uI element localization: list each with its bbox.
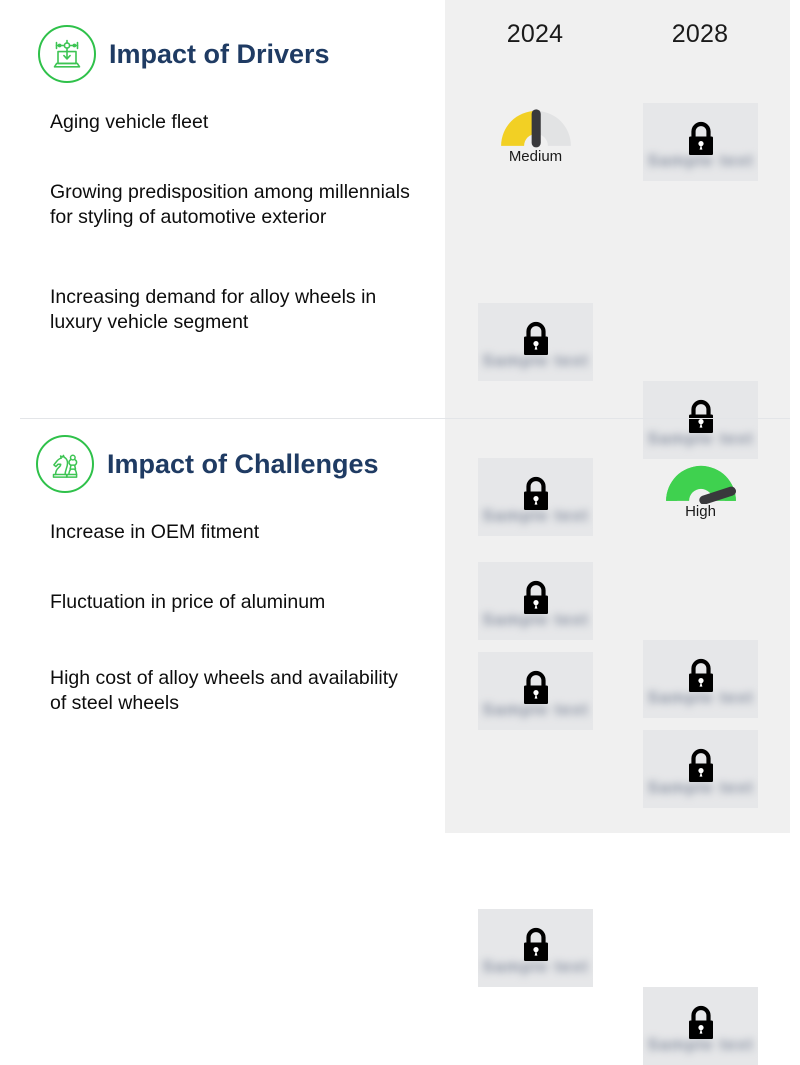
gauge-cell-challenges-0-2028: High (643, 458, 758, 536)
lock-icon (684, 1003, 718, 1048)
section-title-drivers: Impact of Drivers (109, 39, 330, 70)
locked-cell-challenges-0-2024[interactable]: Sample text (478, 458, 593, 536)
column-header-2024: 2024 (475, 20, 595, 49)
locked-cell-challenges-1-2024[interactable]: Sample text (478, 652, 593, 730)
lock-icon (519, 668, 553, 713)
gauge-label-challenges-0-2028: High (685, 503, 716, 520)
chess-pieces-icon (36, 435, 94, 493)
row-label-challenges-2: High cost of alloy wheels and availabili… (50, 666, 410, 716)
gauge-cell-drivers-0-2024: Medium (478, 103, 593, 181)
section-header-challenges: Impact of Challenges (36, 435, 379, 493)
lock-icon (684, 656, 718, 701)
lock-icon (684, 397, 718, 442)
locked-cell-challenges-2-2024[interactable]: Sample text (478, 909, 593, 987)
row-label-drivers-2: Increasing demand for alloy wheels in lu… (50, 285, 410, 335)
locked-cell-challenges-2-2028[interactable]: Sample text (643, 987, 758, 1065)
row-label-drivers-1: Growing predisposition among millennials… (50, 180, 410, 230)
section-drivers-left: Impact of Drivers Aging vehicle fleet Gr… (0, 0, 445, 418)
lock-icon (684, 119, 718, 164)
section-divider (20, 418, 790, 419)
section-challenges-left: Impact of Challenges Increase in OEM fit… (0, 418, 445, 833)
lock-icon (519, 578, 553, 623)
section-header-drivers: Impact of Drivers (38, 25, 330, 83)
row-label-drivers-0: Aging vehicle fleet (50, 110, 410, 135)
locked-cell-drivers-0-2028[interactable]: Sample text (643, 103, 758, 181)
row-label-challenges-1: Fluctuation in price of aluminum (50, 590, 410, 615)
gauge-medium-icon (496, 103, 576, 149)
lock-icon (684, 746, 718, 791)
machine-download-icon (38, 25, 96, 83)
column-header-row: 2024 2028 (445, 20, 790, 65)
lock-icon (519, 319, 553, 364)
section-title-challenges: Impact of Challenges (107, 449, 379, 480)
locked-cell-challenges-1-2028[interactable]: Sample text (643, 730, 758, 808)
gauge-label-drivers-0-2024: Medium (509, 148, 562, 165)
lock-icon (519, 474, 553, 519)
locked-cell-drivers-1-2024[interactable]: Sample text (478, 303, 593, 381)
section-challenges-cells: Sample text High Sample text (445, 418, 790, 833)
gauge-high-icon (661, 458, 741, 504)
column-header-2028: 2028 (640, 20, 760, 49)
row-label-challenges-0: Increase in OEM fitment (50, 520, 410, 545)
lock-icon (519, 925, 553, 970)
